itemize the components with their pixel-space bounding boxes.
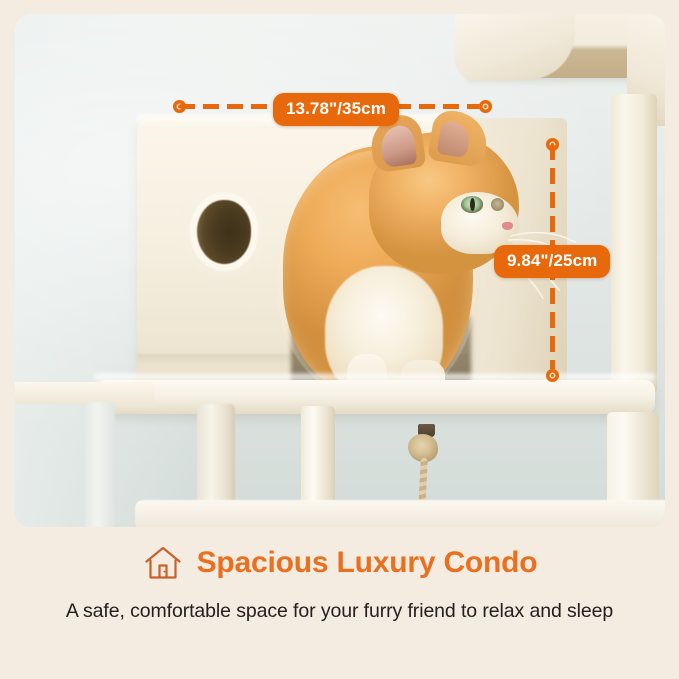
height-endpoint-bottom-icon xyxy=(546,369,559,382)
condo-peek-hole xyxy=(197,200,251,264)
caption-heading-row: Spacious Luxury Condo xyxy=(0,543,679,583)
cat-tree-bottom-shelf xyxy=(135,500,665,527)
cat-tree-post-far-left xyxy=(85,402,115,527)
cat-tree-post-right-tall xyxy=(611,94,657,394)
width-endpoint-right-icon xyxy=(479,100,492,113)
cat-eye-far xyxy=(491,198,504,211)
cat-tree-left-shelf xyxy=(15,382,155,404)
height-measurement-badge: 9.84"/25cm xyxy=(494,245,610,278)
cat-eye xyxy=(461,196,483,213)
product-photo: 13.78"/35cm 9.84"/25cm xyxy=(15,14,665,527)
width-measurement-badge: 13.78"/35cm xyxy=(273,93,399,126)
caption-block: Spacious Luxury Condo A safe, comfortabl… xyxy=(0,530,679,679)
house-icon xyxy=(142,543,184,583)
cat-tree-platform xyxy=(95,380,655,414)
product-feature-poster: 13.78"/35cm 9.84"/25cm Spacious Luxury C… xyxy=(0,0,679,679)
photo-scene: 13.78"/35cm 9.84"/25cm xyxy=(15,14,665,527)
caption-title: Spacious Luxury Condo xyxy=(197,546,538,580)
caption-subtitle: A safe, comfortable space for your furry… xyxy=(23,594,657,628)
